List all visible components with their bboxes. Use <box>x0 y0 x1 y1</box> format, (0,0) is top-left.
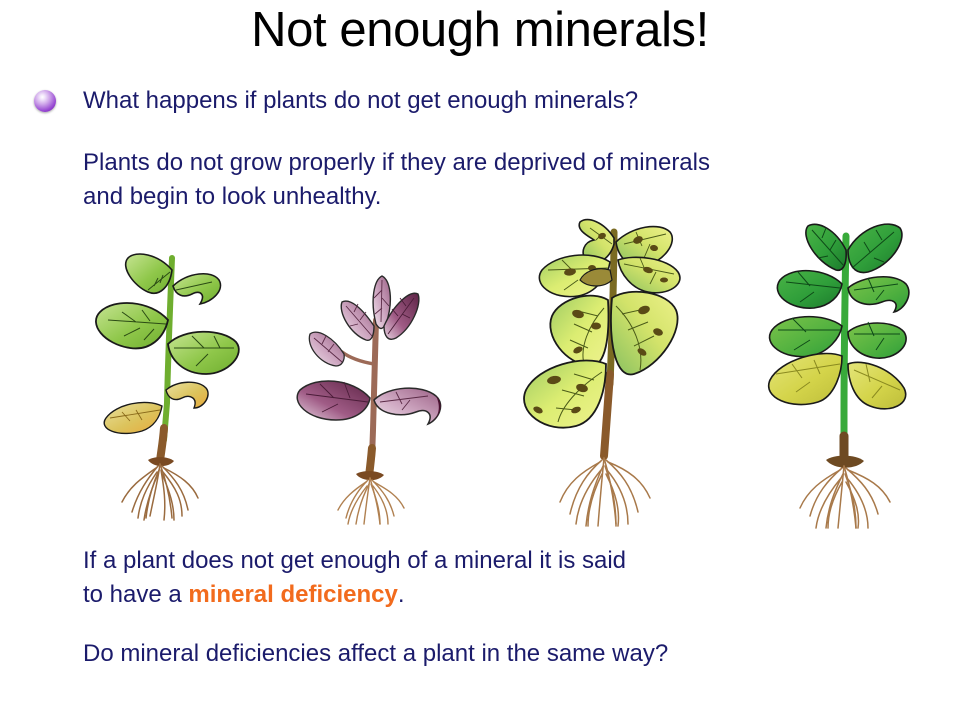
deficiency-line-2: to have a mineral deficiency. <box>83 578 405 612</box>
deficiency-line-2-suffix: . <box>398 581 405 608</box>
purple-sphere-bullet-icon <box>34 90 56 112</box>
intro-paragraph: Plants do not grow properly if they are … <box>83 146 710 214</box>
plant-illustration-2 <box>288 268 460 530</box>
slide-canvas: Not enough minerals! What happens if pla… <box>0 0 960 720</box>
page-title: Not enough minerals! <box>0 2 960 58</box>
plant-illustration-4 <box>752 214 928 532</box>
bullet-text: What happens if plants do not get enough… <box>83 84 638 118</box>
intro-paragraph-line-2: and begin to look unhealthy. <box>83 180 710 214</box>
deficiency-line-2-prefix: to have a <box>83 581 188 608</box>
plant-illustration-3 <box>518 214 714 532</box>
closing-question: Do mineral deficiencies affect a plant i… <box>83 637 668 671</box>
mineral-deficiency-term: mineral deficiency <box>188 581 397 608</box>
deficiency-line-1: If a plant does not get enough of a mine… <box>83 544 626 578</box>
bullet-row: What happens if plants do not get enough… <box>34 84 934 118</box>
plant-illustration-1 <box>88 228 248 528</box>
intro-paragraph-line-1: Plants do not grow properly if they are … <box>83 146 710 180</box>
